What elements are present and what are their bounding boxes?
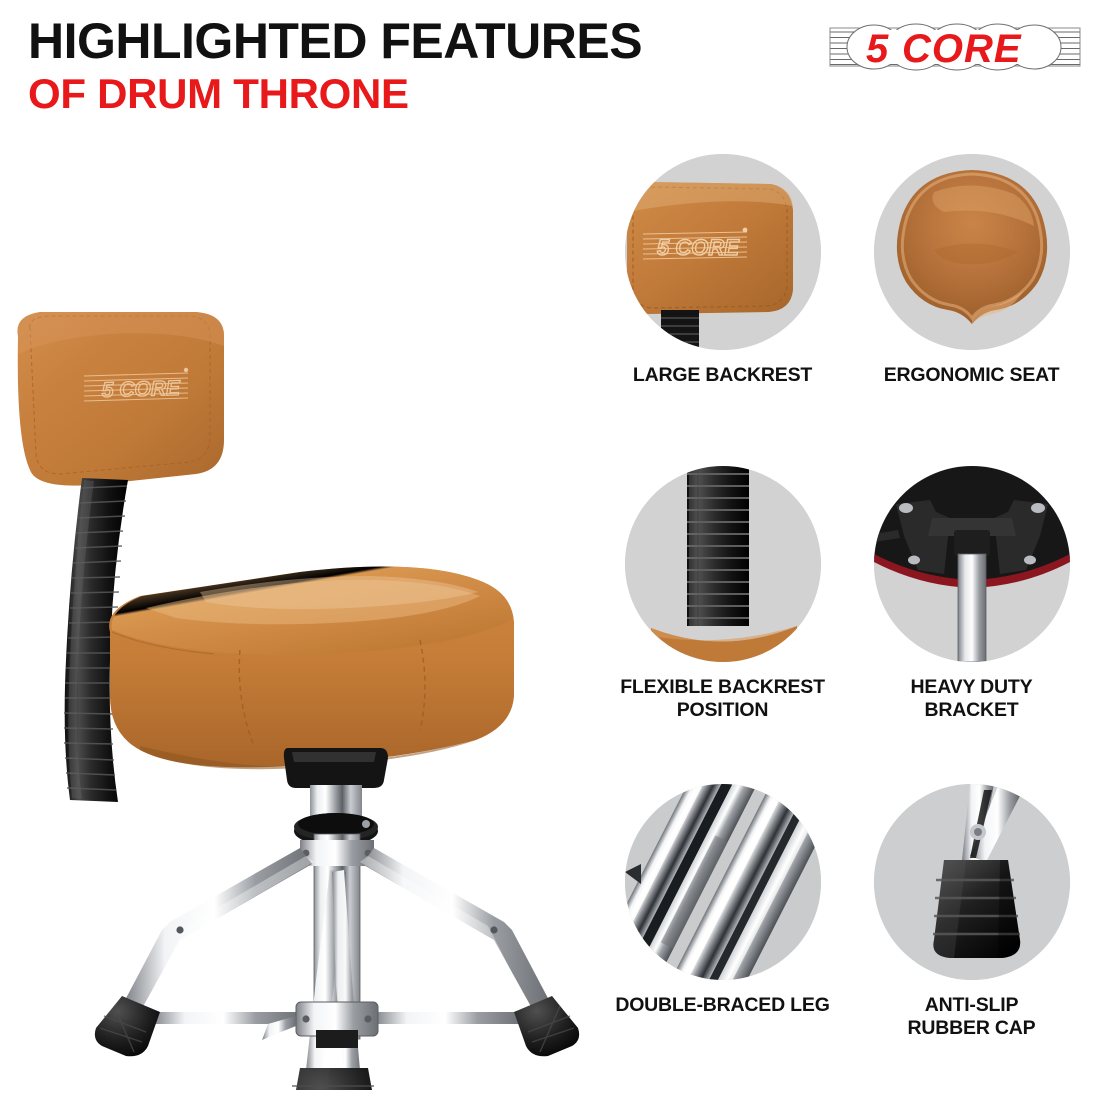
rubber-foot-icon xyxy=(874,784,1070,980)
feature-circle xyxy=(874,466,1070,662)
backrest-pad: 5 CORE xyxy=(17,312,224,486)
title-line-primary: HIGHLIGHTED FEATURES xyxy=(28,14,642,68)
logo-digit-5: 5 xyxy=(866,27,889,71)
feature-label-line1: HEAVY DUTY xyxy=(911,676,1033,698)
rubber-foot-front xyxy=(287,1068,380,1090)
bracket-underside-icon xyxy=(874,466,1070,662)
backrest-pad-icon: 5 CORE xyxy=(625,154,821,350)
chrome-tubes-icon xyxy=(625,784,821,980)
saddle-seat-top-icon xyxy=(874,154,1070,350)
feature-label: FLEXIBLE BACKREST POSITION xyxy=(598,676,847,722)
page-title: HIGHLIGHTED FEATURES OF DRUM THRONE xyxy=(28,14,642,118)
feature-image-wrap xyxy=(847,778,1096,986)
feature-image-wrap xyxy=(598,778,847,986)
brand-logo-5core: 5 CORE xyxy=(824,18,1086,76)
feature-circle xyxy=(874,154,1070,350)
feature-label-line2: BRACKET xyxy=(925,699,1019,721)
feature-circle: 5 CORE xyxy=(625,154,821,350)
feature-ergonomic-seat[interactable]: ERGONOMIC SEAT xyxy=(847,148,1096,387)
feature-label-line2: RUBBER CAP xyxy=(907,1017,1035,1039)
feature-circle xyxy=(625,784,821,980)
feature-circle xyxy=(625,466,821,662)
page-header: HIGHLIGHTED FEATURES OF DRUM THRONE xyxy=(0,0,1096,130)
feature-label-line1: ANTI-SLIP xyxy=(925,994,1019,1016)
rubber-foot-right xyxy=(514,996,579,1056)
feature-label: LARGE BACKREST xyxy=(598,364,847,387)
feature-callout-grid: 5 CORE LARGE BACKREST xyxy=(598,148,1096,1078)
feature-heavy-duty-bracket[interactable]: HEAVY DUTY BRACKET xyxy=(847,460,1096,722)
seat-mount-block xyxy=(284,748,388,788)
feature-image-wrap: 5 CORE xyxy=(598,148,847,356)
ribbed-arm-icon xyxy=(625,466,821,662)
feature-label-line1: FLEXIBLE BACKREST xyxy=(620,676,825,698)
feature-flexible-backrest-position[interactable]: FLEXIBLE BACKREST POSITION xyxy=(598,460,847,722)
product-image-drum-throne: 5 CORE xyxy=(0,140,600,1090)
logo-word-core: CORE xyxy=(902,27,1022,71)
svg-text:5 CORE: 5 CORE xyxy=(657,235,740,260)
feature-image-wrap xyxy=(598,460,847,668)
feature-label: DOUBLE-BRACED LEG xyxy=(598,994,847,1017)
feature-double-braced-leg[interactable]: DOUBLE-BRACED LEG xyxy=(598,778,847,1017)
title-line-secondary: OF DRUM THRONE xyxy=(28,70,642,118)
feature-image-wrap xyxy=(847,148,1096,356)
feature-label: ANTI-SLIP RUBBER CAP xyxy=(847,994,1096,1040)
feature-label: ERGONOMIC SEAT xyxy=(847,364,1096,387)
brace-right xyxy=(374,1012,522,1024)
feature-circle xyxy=(874,784,1070,980)
rubber-foot-left xyxy=(95,996,160,1056)
feature-anti-slip-rubber-cap[interactable]: ANTI-SLIP RUBBER CAP xyxy=(847,778,1096,1040)
svg-text:5 CORE: 5 CORE xyxy=(101,377,181,402)
feature-image-wrap xyxy=(847,460,1096,668)
tripod-base xyxy=(95,834,579,1090)
saddle-seat xyxy=(109,567,514,770)
feature-large-backrest[interactable]: 5 CORE LARGE BACKREST xyxy=(598,148,847,387)
feature-label-line2: POSITION xyxy=(677,699,769,721)
feature-label: HEAVY DUTY BRACKET xyxy=(847,676,1096,722)
